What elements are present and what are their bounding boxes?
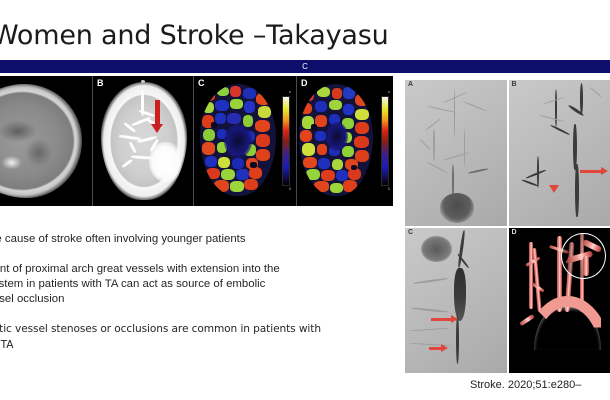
perfusion-map-d <box>299 84 373 196</box>
perfusion-colorbar-d <box>381 96 389 186</box>
panel-letter-c: C <box>198 78 205 88</box>
perfusion-colorbar-c <box>282 96 290 186</box>
aortic-arch <box>523 296 610 362</box>
bullet-line: e vessel occlusion <box>0 292 364 307</box>
bullet-group: a-aortic vessel stenoses or occlusions a… <box>0 322 364 353</box>
angiography-figure: A B <box>405 80 610 373</box>
bullet-line: vement of proximal arch great vessels wi… <box>0 262 364 277</box>
red-arrow-annotation-short <box>429 347 441 350</box>
ct-panel-a: A <box>0 76 92 206</box>
bullet-group: a rare cause of stroke often involving y… <box>0 232 364 247</box>
citation-text: Stroke. 2020;51:e280– <box>470 379 610 391</box>
panel-letter-a: A <box>408 81 413 88</box>
panel-letter-d: D <box>301 78 308 88</box>
bullet-line: a-aortic vessel stenoses or occlusions a… <box>0 322 364 338</box>
angio-panel-b: B <box>509 80 610 226</box>
panel-letter-b: B <box>97 78 104 88</box>
angio-panel-c: C <box>405 228 507 374</box>
bullet-group: vement of proximal arch great vessels wi… <box>0 262 364 307</box>
panel-letter-a: A <box>0 78 1 88</box>
colorbar-bottom-label-c: 0 <box>289 186 291 191</box>
panel-letter-d: D <box>512 229 517 236</box>
perfusion-core-deficit <box>224 124 251 158</box>
figure-band: C <box>0 60 610 73</box>
angio-panel-a: A <box>405 80 507 226</box>
perfusion-map-c <box>200 84 276 196</box>
slide-canvas: Women and Stroke –Takayasu C A <box>0 0 610 400</box>
panel-letter-c: C <box>408 229 413 236</box>
bullet-line: tid system in patients with TA can act a… <box>0 277 364 292</box>
colorbar-top-label-d: s <box>388 89 390 94</box>
ct-panel-d: s 0 D <box>296 76 393 206</box>
figure-band-label: C <box>0 60 610 73</box>
red-arrow-annotation <box>431 318 451 321</box>
panel-letter-b: B <box>512 81 517 88</box>
perfusion-core-deficit <box>326 122 348 151</box>
magnified-inset-circle <box>561 233 606 279</box>
page-title: Women and Stroke –Takayasu <box>0 18 392 54</box>
bullet-line: a rare cause of stroke often involving y… <box>0 232 364 247</box>
colorbar-bottom-label-d: 0 <box>388 186 390 191</box>
red-arrowhead-annotation <box>549 185 559 193</box>
cta-marker-dot <box>141 80 145 83</box>
red-arrow-annotation <box>580 170 602 173</box>
red-arrow-annotation <box>155 100 160 126</box>
cta-hyperdensity <box>149 142 181 182</box>
bullet-text-block: a rare cause of stroke often involving y… <box>0 232 364 368</box>
ct-panel-b: B <box>92 76 193 206</box>
bullet-line: nced TA <box>0 338 364 354</box>
ct-panel-c: s 0 C <box>193 76 296 206</box>
angio-panel-d: D <box>509 228 610 374</box>
ct-image-strip: A B <box>0 76 392 206</box>
cta-vessel-tree <box>101 82 187 200</box>
colorbar-top-label-c: s <box>289 89 291 94</box>
